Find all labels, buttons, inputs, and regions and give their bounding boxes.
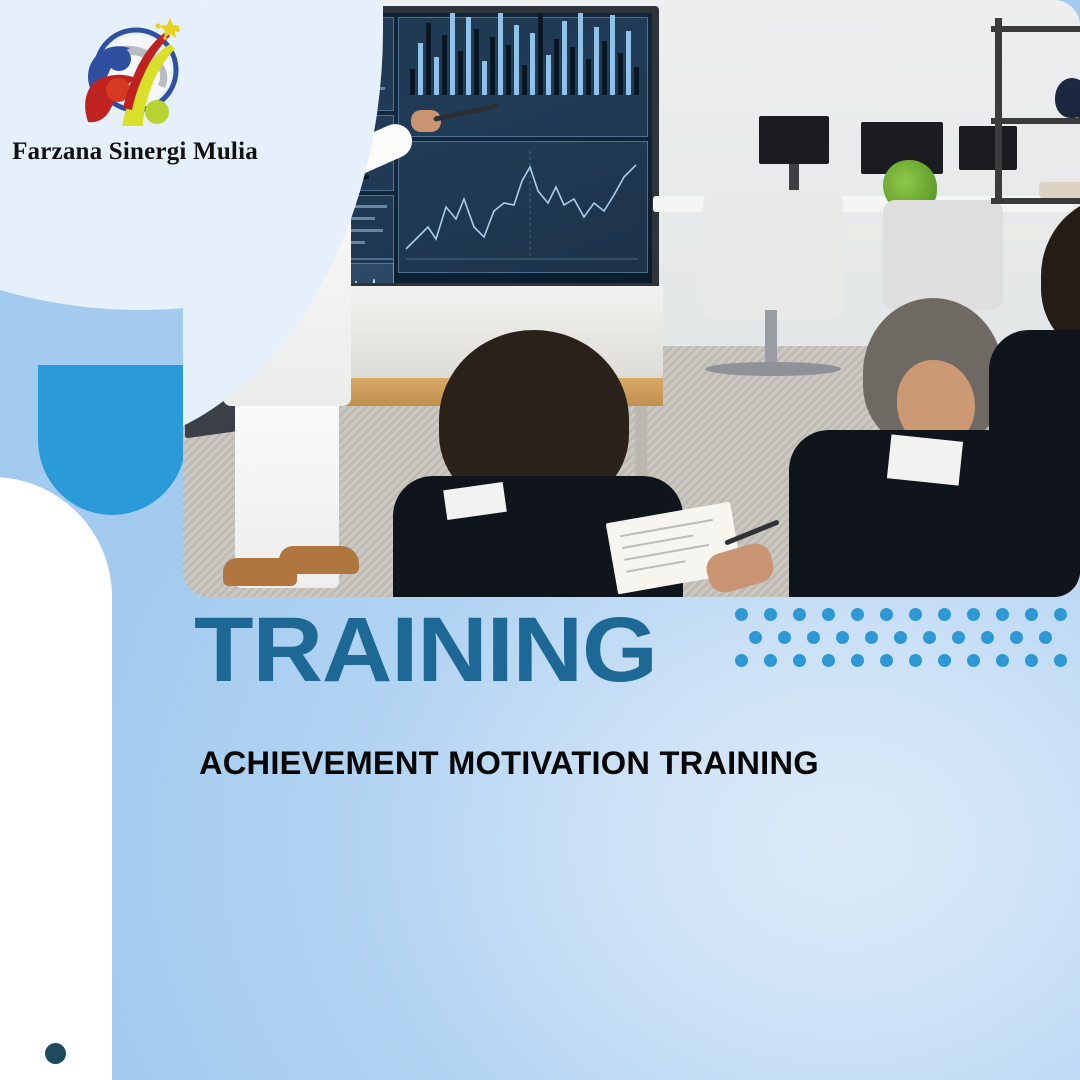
photo-office-chair-secondary [883, 200, 1003, 310]
bullet-dot-icon [45, 1043, 66, 1064]
grid-dot [1025, 654, 1038, 667]
photo-monitor [959, 126, 1017, 170]
grid-dot [1039, 631, 1052, 644]
page-subtitle: ACHIEVEMENT MOTIVATION TRAINING [199, 745, 819, 782]
photo-shelf-post [995, 18, 1002, 198]
photo-monitor-stand [789, 164, 799, 192]
dot-grid-icon [735, 608, 1080, 670]
grid-dot [1025, 608, 1038, 621]
grid-dot [996, 654, 1009, 667]
grid-dot [923, 631, 936, 644]
photo-vase [1055, 78, 1080, 118]
photo-shelf [991, 198, 1080, 204]
grid-dot [1054, 654, 1067, 667]
grid-dot [967, 608, 980, 621]
grid-dot [778, 631, 791, 644]
left-white-panel [0, 477, 112, 1080]
grid-dot [1054, 608, 1067, 621]
grid-dot [735, 608, 748, 621]
grid-dot [735, 654, 748, 667]
grid-dot [865, 631, 878, 644]
photo-cabinet-leg [635, 406, 647, 476]
grid-dot [851, 654, 864, 667]
grid-dot [822, 608, 835, 621]
grid-dot [851, 608, 864, 621]
grid-dot [880, 654, 893, 667]
grid-dot [996, 608, 1009, 621]
photo-chair-pole [765, 310, 777, 370]
training-session-photo [183, 0, 1080, 597]
photo-attendee-suit [989, 330, 1080, 597]
grid-dot [909, 608, 922, 621]
half-disc-accent-icon [38, 365, 186, 515]
presenter-shoe [279, 546, 359, 574]
grid-dot [894, 631, 907, 644]
grid-dot [836, 631, 849, 644]
grid-dot [822, 654, 835, 667]
globe-people-logo-icon [74, 12, 196, 134]
grid-dot [807, 631, 820, 644]
page-title: TRAINING [194, 604, 657, 696]
photo-chair-base [705, 362, 841, 376]
photo-attendee-collar [887, 434, 963, 485]
grid-dot [981, 631, 994, 644]
grid-dot [952, 631, 965, 644]
grid-dot [764, 608, 777, 621]
brand-name: Farzana Sinergi Mulia [10, 138, 260, 166]
photo-office-chair [703, 190, 843, 320]
grid-dot [938, 654, 951, 667]
grid-dot [938, 608, 951, 621]
brand-logo-block: Farzana Sinergi Mulia [10, 12, 260, 166]
grid-dot [793, 654, 806, 667]
grid-dot [1010, 631, 1023, 644]
grid-dot [793, 608, 806, 621]
logo-svg [74, 12, 196, 134]
grid-dot [764, 654, 777, 667]
photo-monitor [759, 116, 829, 164]
grid-dot [967, 654, 980, 667]
photo-decor-object [1039, 182, 1080, 198]
grid-dot [909, 654, 922, 667]
training-poster: Farzana Sinergi Mulia TRAINING ACHIEVEME… [0, 0, 1080, 1080]
line-chart-svg [398, 141, 646, 271]
photo-shelf [991, 118, 1080, 124]
photo-shelf [991, 26, 1080, 32]
grid-dot [749, 631, 762, 644]
grid-dot [880, 608, 893, 621]
